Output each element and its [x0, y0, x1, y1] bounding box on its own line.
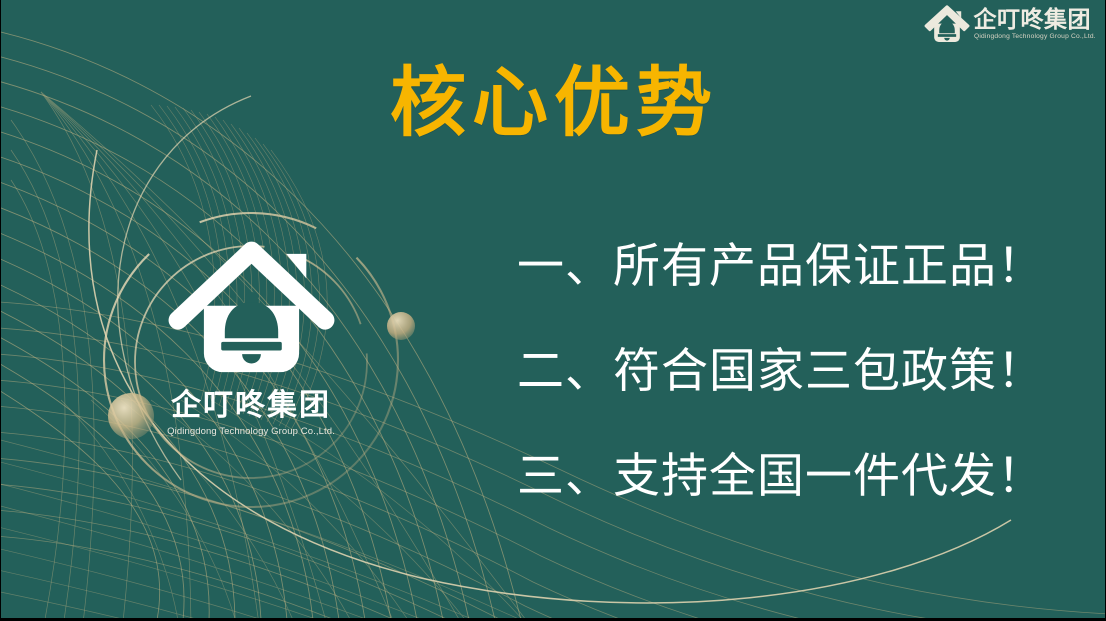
- page-title: 核心优势: [1, 63, 1106, 143]
- header-brand-name-cn: 企叮咚集团: [974, 9, 1092, 32]
- gold-sphere-large: [108, 393, 154, 439]
- advantage-item-3: 三、支持全国一件代发！: [517, 453, 1057, 501]
- house-bell-logo-icon: [164, 238, 339, 388]
- house-bell-logo-icon: [924, 3, 970, 47]
- gold-sphere-small: [387, 312, 415, 340]
- header-brand-logo: 企叮咚集团 Qidingdong Technology Group Co.,Lt…: [924, 2, 1093, 48]
- advantage-list: 一、所有产品保证正品！ 二、符合国家三包政策！ 三、支持全国一件代发！: [517, 243, 1057, 501]
- advantage-item-2: 二、符合国家三包政策！: [517, 348, 1057, 396]
- emblem-brand-name-cn: 企叮咚集团: [151, 391, 351, 421]
- presentation-slide: 企叮咚集团 Qidingdong Technology Group Co.,Lt…: [0, 0, 1106, 621]
- header-brand-text: 企叮咚集团 Qidingdong Technology Group Co.,Lt…: [974, 9, 1093, 41]
- advantage-item-1: 一、所有产品保证正品！: [517, 243, 1057, 291]
- center-brand-emblem: 企叮咚集团 Qidingdong Technology Group Co.,Lt…: [151, 238, 351, 453]
- header-brand-name-en: Qidingdong Technology Group Co.,Ltd.: [974, 34, 1096, 41]
- emblem-brand-name-en: Qidingdong Technology Group Co.,Ltd.: [151, 426, 351, 437]
